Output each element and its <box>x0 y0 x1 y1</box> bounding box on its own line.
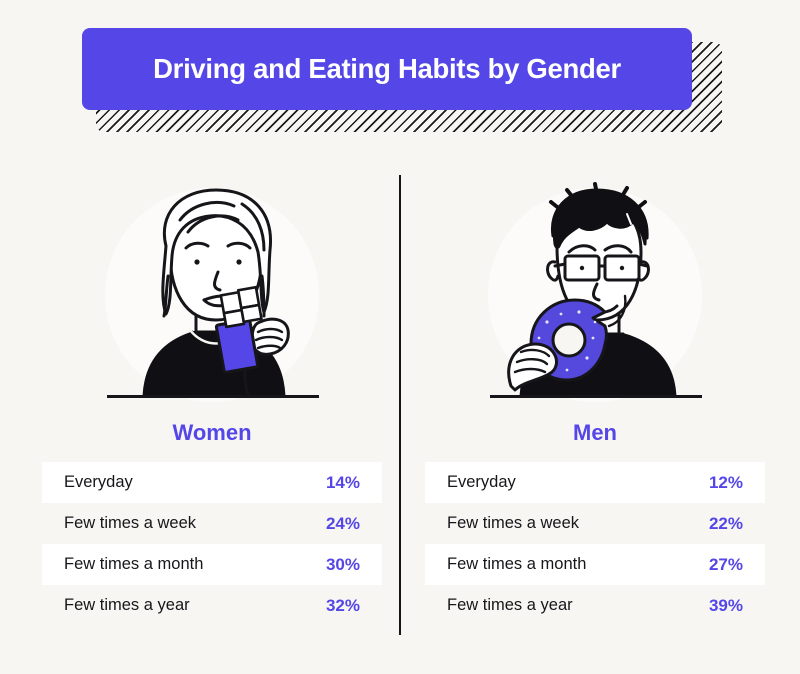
row-value: 27% <box>697 555 743 575</box>
frequency-table-men: Everyday 12% Few times a week 22% Few ti… <box>425 462 765 626</box>
row-label: Few times a year <box>64 596 314 615</box>
panel-heading-men: Men <box>425 420 765 446</box>
row-label: Few times a year <box>447 596 697 615</box>
panel-men: Men Everyday 12% Few times a week 22% Fe… <box>425 180 765 626</box>
illustration-ground-line <box>490 395 702 398</box>
table-row: Few times a year 32% <box>42 585 382 626</box>
row-label: Everyday <box>447 473 697 492</box>
table-row: Everyday 14% <box>42 462 382 503</box>
row-label: Few times a week <box>447 514 697 533</box>
table-row: Few times a month 30% <box>42 544 382 585</box>
panel-women: Women Everyday 14% Few times a week 24% … <box>42 180 382 626</box>
row-label: Few times a month <box>64 555 314 574</box>
table-row: Few times a week 22% <box>425 503 765 544</box>
illustration-ground-line <box>107 395 319 398</box>
frequency-table-women: Everyday 14% Few times a week 24% Few ti… <box>42 462 382 626</box>
illustration-women <box>42 180 382 402</box>
table-row: Few times a week 24% <box>42 503 382 544</box>
panel-heading-women: Women <box>42 420 382 446</box>
table-row: Few times a year 39% <box>425 585 765 626</box>
row-value: 12% <box>697 473 743 493</box>
row-label: Few times a week <box>64 514 314 533</box>
row-value: 39% <box>697 596 743 616</box>
row-value: 32% <box>314 596 360 616</box>
man-eating-donut-icon <box>475 180 715 400</box>
table-row: Few times a month 27% <box>425 544 765 585</box>
illustration-men <box>425 180 765 402</box>
woman-eating-chocolate-bar-icon <box>92 180 332 400</box>
row-label: Everyday <box>64 473 314 492</box>
row-value: 14% <box>314 473 360 493</box>
row-value: 30% <box>314 555 360 575</box>
row-value: 24% <box>314 514 360 534</box>
infographic-canvas: Driving and Eating Habits by Gender <box>0 0 800 674</box>
panel-divider <box>399 175 401 635</box>
title-banner-plate: Driving and Eating Habits by Gender <box>82 28 692 110</box>
row-label: Few times a month <box>447 555 697 574</box>
page-title: Driving and Eating Habits by Gender <box>153 53 621 85</box>
title-banner: Driving and Eating Habits by Gender <box>82 28 722 132</box>
table-row: Everyday 12% <box>425 462 765 503</box>
row-value: 22% <box>697 514 743 534</box>
